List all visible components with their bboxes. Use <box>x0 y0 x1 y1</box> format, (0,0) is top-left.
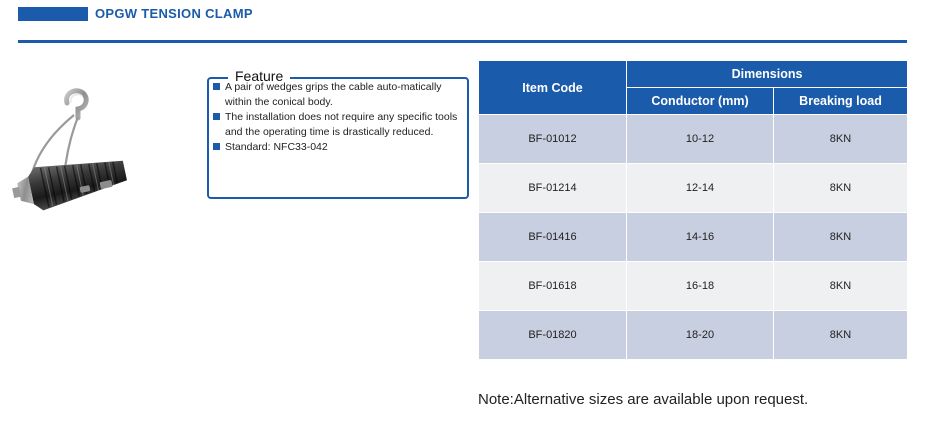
table-row: BF-01618 16-18 8KN <box>479 262 908 311</box>
bullet-icon <box>213 83 220 90</box>
bullet-icon <box>213 143 220 150</box>
feature-list: A pair of wedges grips the cable auto-ma… <box>213 80 465 155</box>
header-divider <box>18 40 907 43</box>
cell-item-code: BF-01618 <box>479 262 627 311</box>
cell-conductor: 10-12 <box>627 115 774 164</box>
page-header: OPGW TENSION CLAMP <box>0 0 925 40</box>
list-item: Standard: NFC33-042 <box>213 140 465 155</box>
cell-conductor: 12-14 <box>627 164 774 213</box>
list-item: The installation does not require any sp… <box>213 110 465 140</box>
cell-conductor: 16-18 <box>627 262 774 311</box>
page-title: OPGW TENSION CLAMP <box>95 6 253 21</box>
cell-item-code: BF-01012 <box>479 115 627 164</box>
table-row: BF-01012 10-12 8KN <box>479 115 908 164</box>
table-body: BF-01012 10-12 8KN BF-01214 12-14 8KN BF… <box>479 115 908 360</box>
table-row: BF-01214 12-14 8KN <box>479 164 908 213</box>
header-conductor: Conductor (mm) <box>627 88 774 115</box>
table-note: Note:Alternative sizes are available upo… <box>478 391 808 408</box>
cell-breaking-load: 8KN <box>774 213 908 262</box>
bullet-icon <box>213 113 220 120</box>
cell-breaking-load: 8KN <box>774 262 908 311</box>
list-item: A pair of wedges grips the cable auto-ma… <box>213 80 465 110</box>
feature-text: A pair of wedges grips the cable auto-ma… <box>225 81 442 108</box>
table-header-row-1: Item Code Dimensions <box>479 61 908 88</box>
feature-text: Standard: NFC33-042 <box>225 141 328 153</box>
cell-breaking-load: 8KN <box>774 115 908 164</box>
cell-conductor: 14-16 <box>627 213 774 262</box>
feature-text: The installation does not require any sp… <box>225 111 457 138</box>
specification-table: Item Code Dimensions Conductor (mm) Brea… <box>478 60 908 360</box>
header-accent-bar <box>18 7 88 21</box>
cell-breaking-load: 8KN <box>774 311 908 360</box>
table-row: BF-01820 18-20 8KN <box>479 311 908 360</box>
table-row: BF-01416 14-16 8KN <box>479 213 908 262</box>
product-image <box>12 85 197 225</box>
cell-breaking-load: 8KN <box>774 164 908 213</box>
header-item-code: Item Code <box>479 61 627 115</box>
cell-item-code: BF-01214 <box>479 164 627 213</box>
cell-item-code: BF-01820 <box>479 311 627 360</box>
cell-conductor: 18-20 <box>627 311 774 360</box>
cell-item-code: BF-01416 <box>479 213 627 262</box>
header-breaking-load: Breaking load <box>774 88 908 115</box>
header-dimensions: Dimensions <box>627 61 908 88</box>
